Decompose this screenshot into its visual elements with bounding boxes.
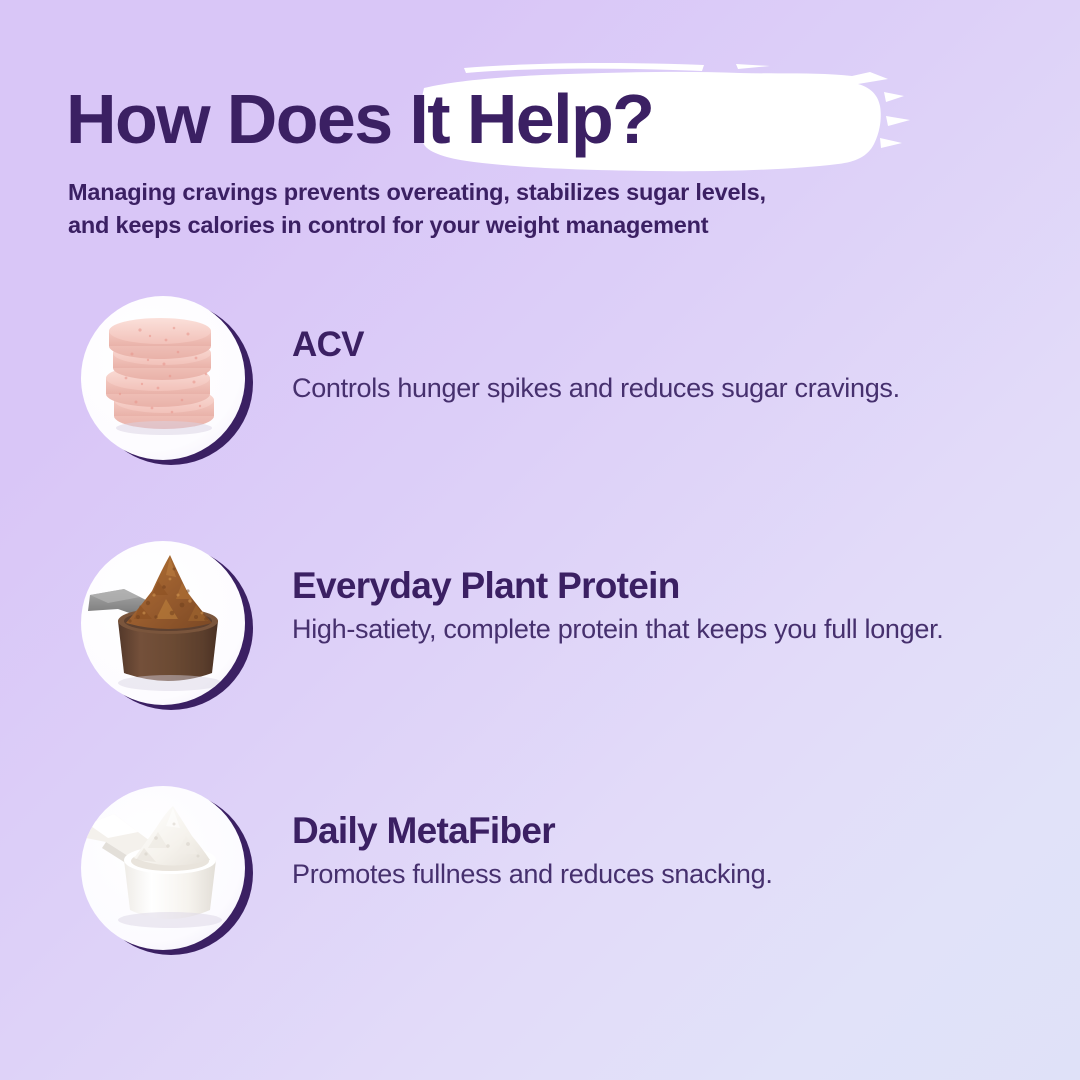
protein-text-block: Everyday Plant Protein High-satiety, com… (268, 533, 1028, 649)
metafiber-description: Promotes fullness and reduces snacking. (292, 852, 992, 894)
metafiber-title: Daily MetaFiber (292, 810, 1028, 852)
subtitle-line-1: Managing cravings prevents overeating, s… (68, 176, 968, 209)
acv-thumbnail (78, 288, 268, 470)
subtitle-line-2: and keeps calories in control for your w… (68, 209, 968, 242)
acv-text-block: ACV Controls hunger spikes and reduces s… (268, 288, 1028, 408)
protein-description: High-satiety, complete protein that keep… (292, 607, 992, 649)
page-title: How Does It Help? (66, 66, 966, 172)
benefit-item-acv: ACV Controls hunger spikes and reduces s… (78, 288, 1028, 470)
benefit-item-metafiber: Daily MetaFiber Promotes fullness and re… (78, 778, 1028, 960)
acv-title: ACV (292, 324, 1028, 366)
protein-scoop-icon (78, 533, 268, 715)
page-subtitle: Managing cravings prevents overeating, s… (68, 176, 968, 242)
fiber-scoop-icon (78, 778, 268, 960)
benefit-item-protein: Everyday Plant Protein High-satiety, com… (78, 533, 1028, 715)
metafiber-text-block: Daily MetaFiber Promotes fullness and re… (268, 778, 1028, 894)
page-title-block: How Does It Help? (66, 66, 966, 176)
metafiber-thumbnail (78, 778, 268, 960)
protein-title: Everyday Plant Protein (292, 565, 1028, 607)
poster-canvas: How Does It Help? Managing cravings prev… (0, 0, 1080, 1080)
acv-tablets-icon (78, 288, 268, 470)
protein-thumbnail (78, 533, 268, 715)
acv-description: Controls hunger spikes and reduces sugar… (292, 366, 992, 408)
